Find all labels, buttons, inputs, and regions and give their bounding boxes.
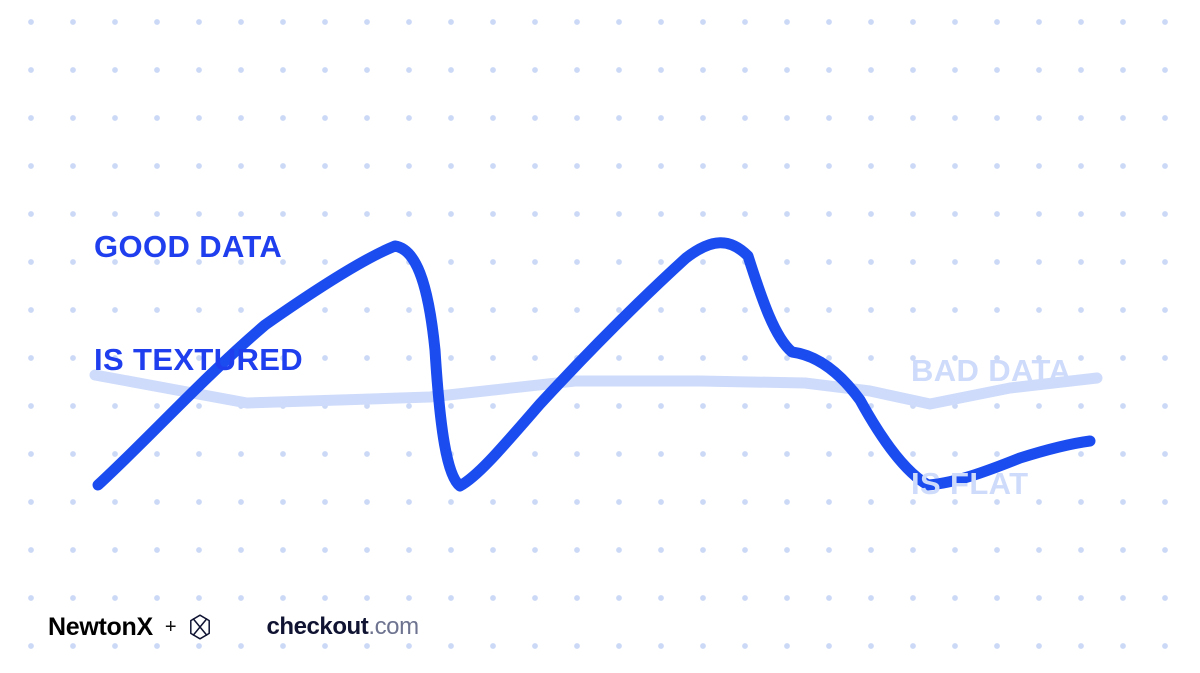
bad-data-heading-line2: IS FLAT [911,465,1071,503]
checkout-name: checkout [266,613,368,640]
checkout-wordmark: checkout.com [217,591,419,663]
plus-separator: + [164,617,178,637]
checkout-logo: checkout.com [189,591,419,663]
checkout-hexagon-x-icon [189,614,211,640]
bad-data-heading-line1: BAD DATA [911,352,1071,390]
footer-logo-bar: NewtonX + checkout.com [48,611,419,643]
good-data-heading-line2: IS TEXTURED [94,341,303,379]
checkout-tld: .com [368,613,418,640]
good-data-heading: GOOD DATA IS TEXTURED [94,152,303,455]
good-data-heading-line1: GOOD DATA [94,228,303,266]
bad-data-heading: BAD DATA IS FLAT [911,276,1071,579]
newtonx-logo: NewtonX [48,615,153,640]
poster-canvas: GOOD DATA IS TEXTURED BAD DATA IS FLAT N… [0,0,1200,673]
